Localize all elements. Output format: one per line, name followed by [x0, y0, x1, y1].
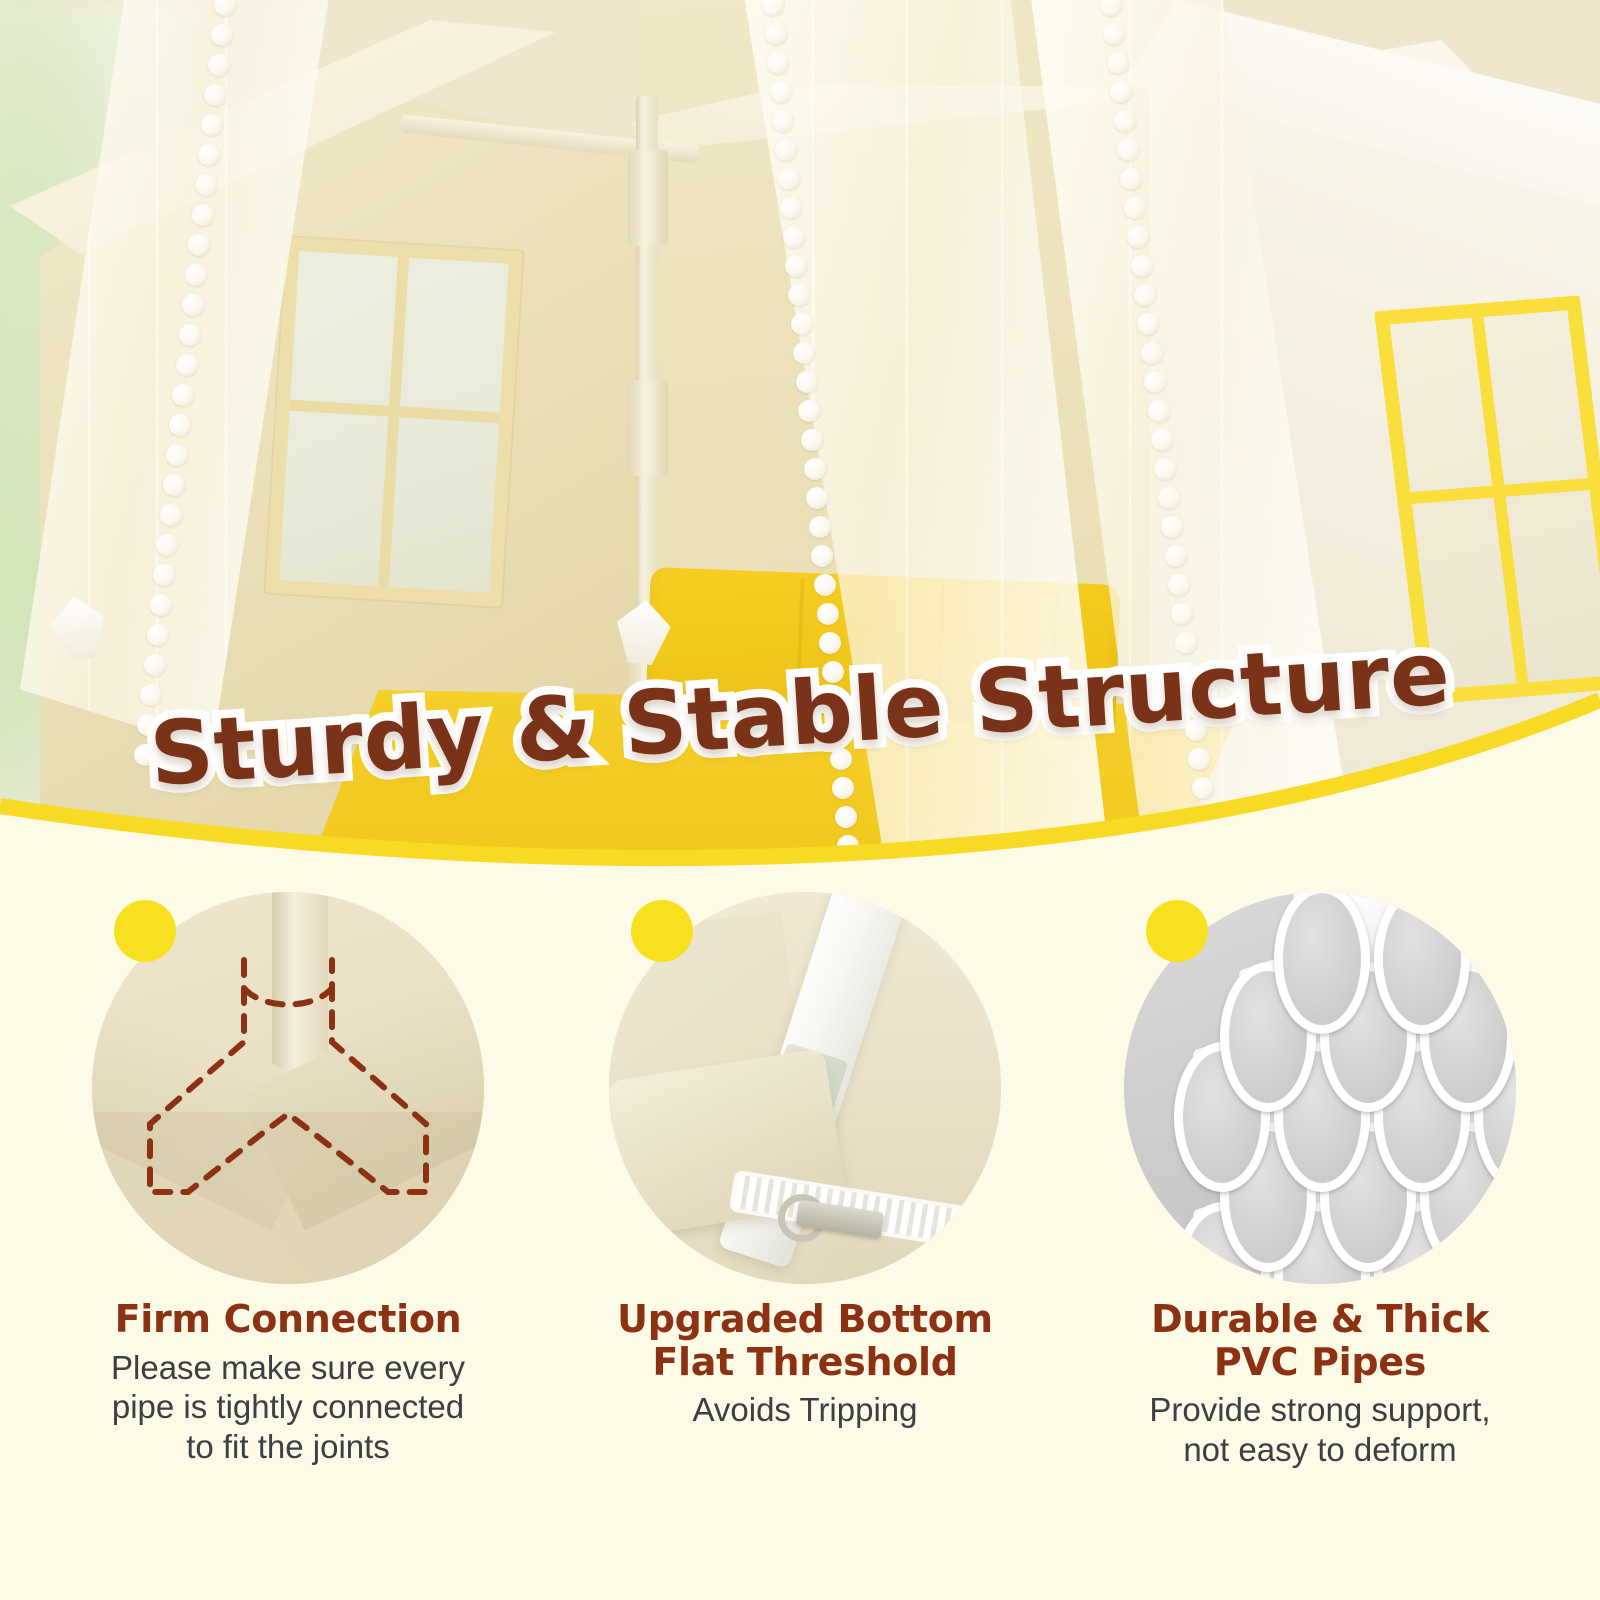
feature-image-wrap: 0.8": [1124, 892, 1516, 1284]
pompom-icon: [163, 474, 185, 496]
pompom-icon: [770, 81, 792, 103]
feature-image-wrap: [609, 892, 1001, 1284]
features-section: Firm Connection Please make sure everypi…: [0, 880, 1600, 1600]
pompom-icon: [1131, 255, 1153, 277]
pompom-icon: [1192, 777, 1214, 799]
infographic-page: Sturdy & Stable Structure: [0, 0, 1600, 1600]
feature-title: Firm Connection: [28, 1298, 548, 1341]
pompom-icon: [166, 444, 188, 466]
tent-window-left: [265, 237, 522, 607]
pompom-icon: [788, 284, 810, 306]
pompom-icon: [791, 313, 813, 335]
feature-body: Please make sure everypipe is tightly co…: [28, 1348, 548, 1467]
pole-strap: [628, 150, 668, 246]
pompom-icon: [208, 54, 230, 76]
pompom-icon: [182, 294, 204, 316]
pompom-icon: [1195, 806, 1217, 828]
feature-caption: Firm Connection Please make sure everypi…: [28, 1298, 548, 1466]
badge-dot-icon: [631, 900, 693, 962]
hero-section: Sturdy & Stable Structure: [0, 0, 1600, 880]
pompom-icon: [837, 835, 859, 857]
pompom-icon: [796, 371, 818, 393]
pompom-icon: [817, 603, 839, 625]
pompom-icon: [176, 354, 198, 376]
pompom-icon: [211, 24, 233, 46]
pompom-icon: [835, 806, 857, 828]
feature-card-pvc-pipes: 0.8" Durable & ThickPVC Pipes Provide st…: [1060, 880, 1580, 1600]
pompom-icon: [1151, 429, 1173, 451]
pompom-icon: [1134, 284, 1156, 306]
window-mullion-vertical: [378, 257, 409, 587]
pompom-icon: [783, 226, 805, 248]
feature-body: Provide strong support,not easy to defor…: [1060, 1390, 1580, 1469]
pompom-icon: [150, 594, 172, 616]
feature-image-wrap: [92, 892, 484, 1284]
feature-body: Avoids Tripping: [545, 1390, 1065, 1430]
pompom-icon: [804, 458, 826, 480]
feature-title: Durable & ThickPVC Pipes: [1060, 1298, 1580, 1383]
feature-card-firm-connection: Firm Connection Please make sure everypi…: [28, 880, 548, 1600]
feature-caption: Upgraded BottomFlat Threshold Avoids Tri…: [545, 1298, 1065, 1430]
pompom-icon: [1165, 545, 1187, 567]
pompom-icon: [801, 429, 823, 451]
pompom-icon: [144, 654, 166, 676]
pompom-icon: [1107, 52, 1129, 74]
feature-card-flat-threshold: Upgraded BottomFlat Threshold Avoids Tri…: [545, 880, 1065, 1600]
pompom-icon: [814, 574, 836, 596]
pompom-icon: [1168, 574, 1190, 596]
pompom-icon: [1158, 487, 1180, 509]
feature-title: Upgraded BottomFlat Threshold: [545, 1298, 1065, 1383]
pompom-icon: [1141, 342, 1163, 364]
pompom-icon: [147, 624, 169, 646]
pompom-icon: [778, 168, 800, 190]
badge-dot-icon: [1146, 900, 1208, 962]
pompom-icon: [1124, 197, 1146, 219]
pompom-icon: [775, 139, 797, 161]
pompom-icon: [1114, 110, 1136, 132]
window-mullion-vertical: [1471, 317, 1528, 683]
pompom-icon: [198, 144, 220, 166]
pompom-icon: [1148, 400, 1170, 422]
pompom-icon: [1117, 139, 1139, 161]
pompom-icon: [1199, 835, 1221, 857]
pole-strap: [628, 380, 668, 476]
pompom-icon: [195, 174, 217, 196]
badge-dot-icon: [114, 900, 176, 962]
feature-caption: Durable & ThickPVC Pipes Provide strong …: [1060, 1298, 1580, 1469]
pompom-icon: [809, 516, 831, 538]
pompom-icon: [179, 324, 201, 346]
pompom-icon: [192, 204, 214, 226]
pompom-icon: [765, 23, 787, 45]
pompom-icon: [160, 504, 182, 526]
